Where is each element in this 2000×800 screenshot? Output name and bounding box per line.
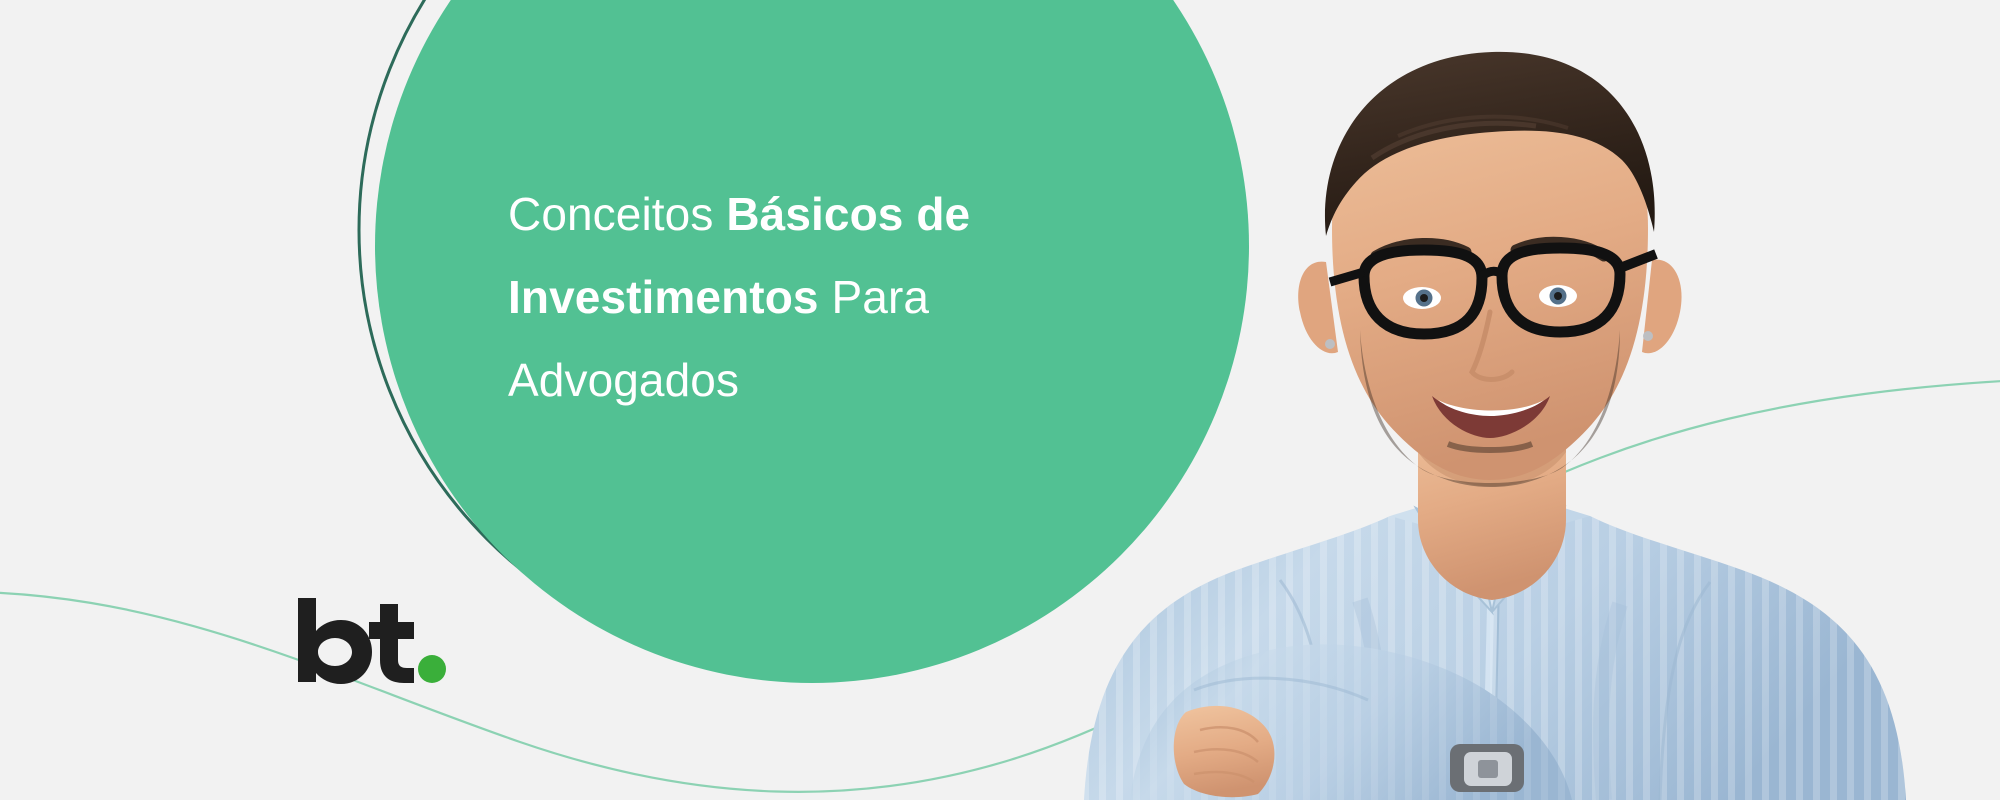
logo-dot-icon	[416, 598, 450, 684]
logo-letter-t	[369, 604, 414, 683]
bt-logo-mark	[296, 598, 416, 684]
nose	[1472, 312, 1512, 380]
headline-part-regular-1: Conceitos	[508, 188, 726, 240]
marketing-banner: Conceitos Básicos de Investimentos Para …	[0, 0, 2000, 800]
glasses	[1330, 248, 1656, 334]
mouth	[1432, 396, 1550, 438]
bt-logo[interactable]	[296, 598, 450, 684]
hair	[1325, 52, 1655, 236]
wristwatch	[1450, 744, 1524, 792]
crossed-arms	[1130, 644, 1572, 800]
beard	[1360, 330, 1620, 487]
head	[1325, 52, 1656, 487]
ear-left	[1298, 262, 1338, 354]
person-photo	[980, 0, 2000, 800]
neck	[1418, 400, 1566, 600]
shirt	[1080, 500, 1920, 800]
ear-right	[1642, 260, 1682, 354]
logo-letter-b	[298, 598, 372, 684]
eyebrow-right	[1516, 242, 1604, 256]
headline: Conceitos Básicos de Investimentos Para …	[508, 173, 1128, 422]
eyebrow-left	[1376, 243, 1466, 256]
